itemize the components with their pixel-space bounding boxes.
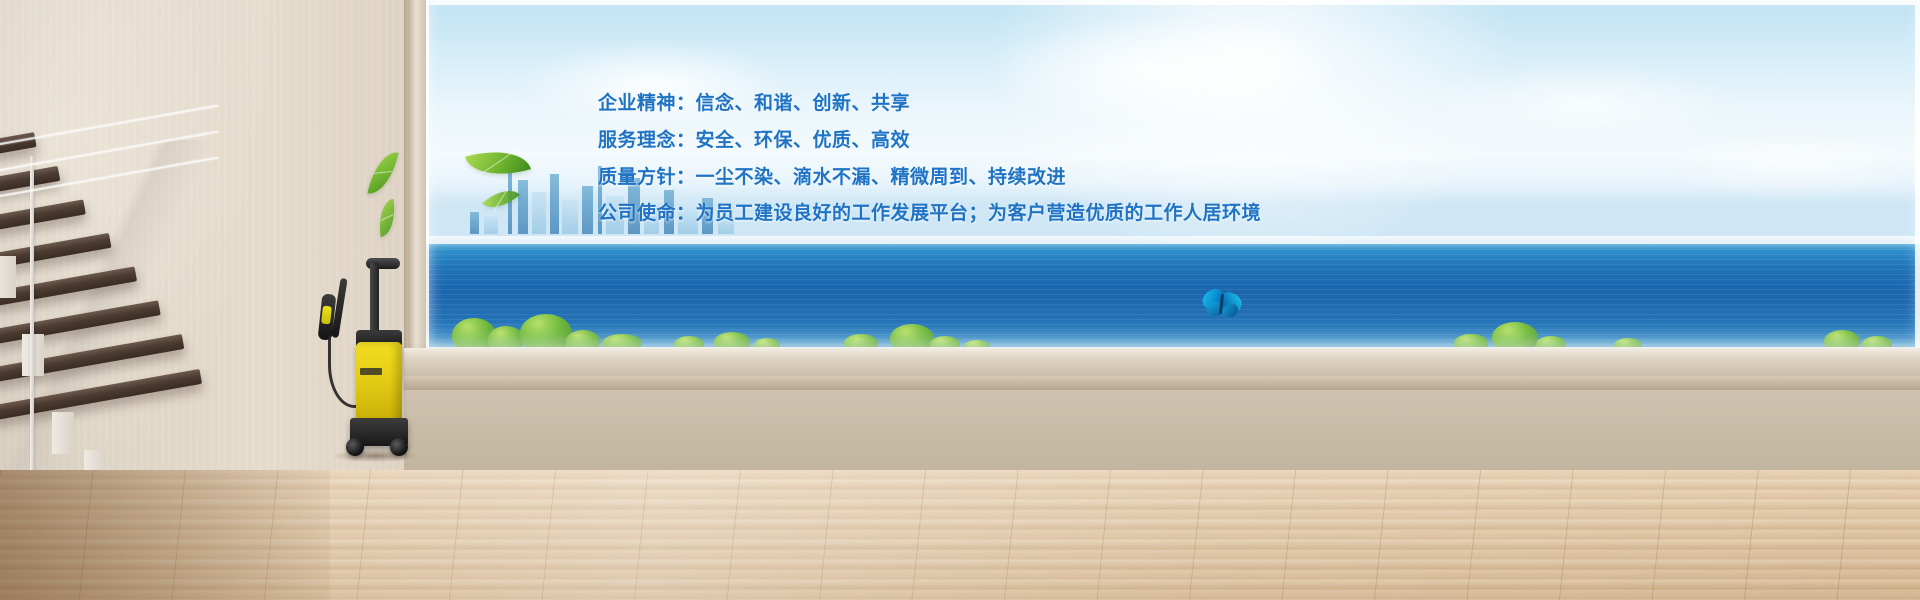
railing-post xyxy=(30,156,34,474)
culture-line-mission: 公司使命：为员工建设良好的工作发展平台；为客户营造优质的工作人居环境 xyxy=(598,202,1358,226)
pressure-washer-body xyxy=(356,342,402,424)
tree xyxy=(520,314,572,352)
skyline-building xyxy=(518,180,528,234)
pressure-washer-wheel xyxy=(346,438,364,456)
stair-riser xyxy=(0,256,16,298)
culture-line-quality: 质量方针：一尘不染、滴水不漏、精微周到、持续改进 xyxy=(598,166,1358,190)
skyline-building xyxy=(582,186,593,234)
butterfly xyxy=(1202,288,1242,322)
pressure-washer-wheel xyxy=(390,438,408,456)
leaf-vein xyxy=(374,171,392,174)
lower-wall xyxy=(404,390,1920,472)
staircase xyxy=(0,140,220,490)
culture-line-spirit: 企业精神：信念、和谐、创新、共享 xyxy=(598,92,1358,116)
skyline-building xyxy=(562,200,578,234)
company-culture-hero-banner: 企业精神：信念、和谐、创新、共享 服务理念：安全、环保、优质、高效 质量方针：一… xyxy=(0,0,1920,600)
leaf-vein xyxy=(380,214,393,221)
spray-gun-trigger xyxy=(321,306,332,325)
shoreline-tree-row xyxy=(424,306,1920,352)
floor-shadow-left xyxy=(0,470,330,600)
cloud xyxy=(1664,130,1920,200)
skyline-building xyxy=(550,174,559,234)
culture-line-service: 服务理念：安全、环保、优质、高效 xyxy=(598,129,1358,153)
company-culture-text-block: 企业精神：信念、和谐、创新、共享 服务理念：安全、环保、优质、高效 质量方针：一… xyxy=(598,92,1358,226)
skyline-building xyxy=(532,192,546,234)
stair-riser xyxy=(52,412,74,454)
pressure-washer xyxy=(316,258,422,460)
cloud xyxy=(1424,60,1744,146)
skyline-building xyxy=(470,212,479,234)
pressure-washer-label xyxy=(360,368,382,375)
skyline-building xyxy=(484,216,498,234)
pressure-washer-handle-bar xyxy=(370,262,379,340)
